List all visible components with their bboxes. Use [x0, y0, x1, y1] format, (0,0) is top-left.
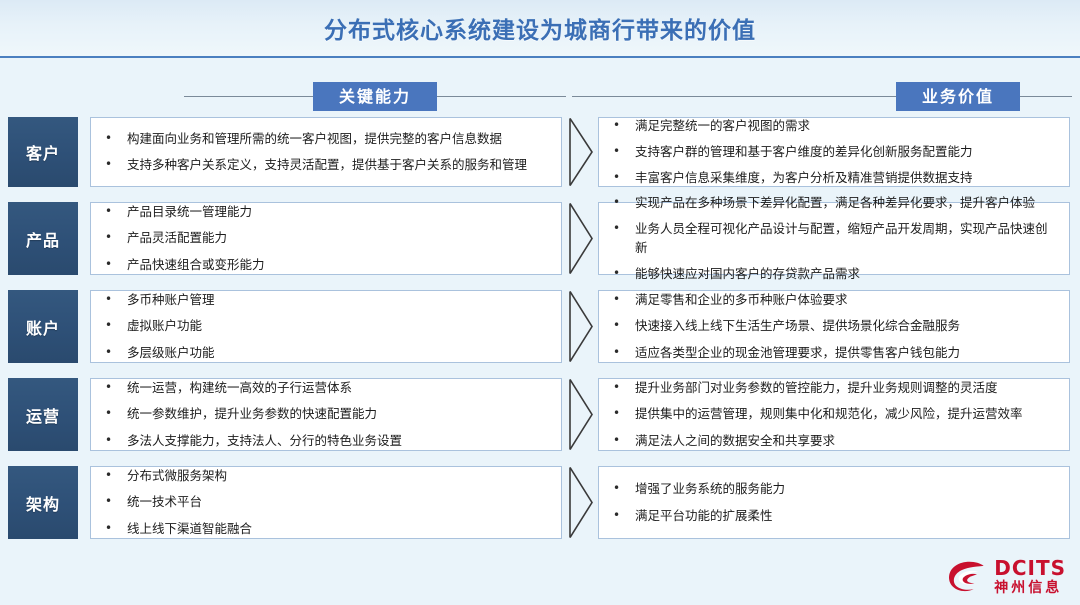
- brand-logo: DCITS 神州信息: [947, 558, 1066, 595]
- bullet-text: 多法人支撑能力，支持法人、分行的特色业务设置: [127, 432, 551, 450]
- pill-business-value: 业务价值: [896, 82, 1020, 111]
- capabilities-panel: •产品目录统一管理能力•产品灵活配置能力•产品快速组合或变形能力: [90, 202, 562, 275]
- bullet-item: •多层级账户功能: [101, 340, 551, 366]
- bullet-item: •提升业务部门对业务参数的管控能力，提升业务规则调整的灵活度: [609, 375, 1059, 401]
- title-band: 分布式核心系统建设为城商行带来的价值: [0, 0, 1080, 58]
- bullet-dot-icon: •: [609, 432, 635, 449]
- bullet-text: 提升业务部门对业务参数的管控能力，提升业务规则调整的灵活度: [635, 379, 1059, 397]
- bullet-text: 业务人员全程可视化产品设计与配置，缩短产品开发周期，实现产品快速创新: [635, 220, 1059, 256]
- column-header-capabilities: 关键能力: [184, 82, 566, 111]
- bullet-item: •虚拟账户功能: [101, 313, 551, 339]
- bullet-item: •支持客户群的管理和基于客户维度的差异化创新服务配置能力: [609, 139, 1059, 165]
- bullet-item: •统一技术平台: [101, 489, 551, 515]
- bullet-dot-icon: •: [609, 194, 635, 211]
- bullet-item: •丰富客户信息采集维度，为客户分析及精准营销提供数据支持: [609, 165, 1059, 191]
- bullet-text: 满足平台功能的扩展柔性: [635, 507, 1059, 525]
- bullet-item: •分布式微服务架构: [101, 463, 551, 489]
- bullet-item: •业务人员全程可视化产品设计与配置，缩短产品开发周期，实现产品快速创新: [609, 216, 1059, 260]
- bullet-dot-icon: •: [101, 344, 127, 361]
- bullet-text: 统一参数维护，提升业务参数的快速配置能力: [127, 405, 551, 423]
- bullet-item: •构建面向业务和管理所需的统一客户视图，提供完整的客户信息数据: [101, 126, 551, 152]
- row-tag: 客户: [8, 117, 78, 187]
- bullet-dot-icon: •: [609, 480, 635, 497]
- capabilities-panel: •构建面向业务和管理所需的统一客户视图，提供完整的客户信息数据•支持多种客户关系…: [90, 117, 562, 187]
- bullet-text: 增强了业务系统的服务能力: [635, 480, 1059, 498]
- row-tag: 架构: [8, 466, 78, 539]
- bullet-dot-icon: •: [609, 117, 635, 134]
- dcits-swirl-icon: [947, 560, 987, 594]
- bullet-item: •满足完整统一的客户视图的需求: [609, 113, 1059, 139]
- row-tag-label: 客户: [26, 140, 60, 164]
- bullet-text: 多层级账户功能: [127, 344, 551, 362]
- bullet-item: •统一运营，构建统一高效的子行运营体系: [101, 375, 551, 401]
- bullet-text: 产品灵活配置能力: [127, 229, 551, 247]
- bullet-text: 实现产品在多种场景下差异化配置，满足各种差异化要求，提升客户体验: [635, 194, 1059, 212]
- bullet-dot-icon: •: [101, 432, 127, 449]
- bullet-item: •适应各类型企业的现金池管理要求，提供零售客户钱包能力: [609, 340, 1059, 366]
- logo-english: DCITS: [994, 558, 1066, 578]
- bullet-dot-icon: •: [101, 379, 127, 396]
- rule-right: [437, 96, 566, 97]
- logo-chinese: 神州信息: [994, 581, 1066, 595]
- bullet-text: 支持多种客户关系定义，支持灵活配置，提供基于客户关系的服务和管理: [127, 156, 551, 174]
- bullet-dot-icon: •: [609, 344, 635, 361]
- bullet-dot-icon: •: [101, 291, 127, 308]
- business-value-panel: •提升业务部门对业务参数的管控能力，提升业务规则调整的灵活度•提供集中的运营管理…: [598, 378, 1070, 451]
- business-value-panel: •满足零售和企业的多币种账户体验要求•快速接入线上线下生活生产场景、提供场景化综…: [598, 290, 1070, 363]
- business-value-panel: •增强了业务系统的服务能力•满足平台功能的扩展柔性: [598, 466, 1070, 539]
- bullet-item: •产品灵活配置能力: [101, 225, 551, 251]
- bullet-text: 虚拟账户功能: [127, 317, 551, 335]
- bullet-item: •线上线下渠道智能融合: [101, 516, 551, 542]
- bullet-dot-icon: •: [609, 220, 635, 237]
- content-row: 客户•构建面向业务和管理所需的统一客户视图，提供完整的客户信息数据•支持多种客户…: [0, 117, 1080, 187]
- bullet-item: •产品快速组合或变形能力: [101, 252, 551, 278]
- bullet-text: 分布式微服务架构: [127, 467, 551, 485]
- bullet-text: 多币种账户管理: [127, 291, 551, 309]
- bullet-text: 统一技术平台: [127, 493, 551, 511]
- bullet-text: 快速接入线上线下生活生产场景、提供场景化综合金融服务: [635, 317, 1059, 335]
- bullet-dot-icon: •: [101, 156, 127, 173]
- bullet-dot-icon: •: [609, 317, 635, 334]
- row-tag: 运营: [8, 378, 78, 451]
- bullet-dot-icon: •: [101, 229, 127, 246]
- bullet-text: 满足零售和企业的多币种账户体验要求: [635, 291, 1059, 309]
- bullet-text: 能够快速应对国内客户的存贷款产品需求: [635, 265, 1059, 283]
- bullet-dot-icon: •: [101, 256, 127, 273]
- capabilities-panel: •分布式微服务架构•统一技术平台•线上线下渠道智能融合: [90, 466, 562, 539]
- logo-wordmark: DCITS 神州信息: [994, 558, 1066, 595]
- rule-left: [572, 96, 896, 97]
- content-row: 运营•统一运营，构建统一高效的子行运营体系•统一参数维护，提升业务参数的快速配置…: [0, 378, 1080, 451]
- chevron-arrow-icon: [566, 202, 596, 275]
- bullet-dot-icon: •: [101, 203, 127, 220]
- chevron-arrow-icon: [566, 466, 596, 539]
- bullet-text: 丰富客户信息采集维度，为客户分析及精准营销提供数据支持: [635, 169, 1059, 187]
- bullet-dot-icon: •: [609, 143, 635, 160]
- bullet-dot-icon: •: [609, 265, 635, 282]
- capabilities-panel: •统一运营，构建统一高效的子行运营体系•统一参数维护，提升业务参数的快速配置能力…: [90, 378, 562, 451]
- bullet-dot-icon: •: [609, 405, 635, 422]
- bullet-text: 统一运营，构建统一高效的子行运营体系: [127, 379, 551, 397]
- row-tag-label: 架构: [26, 491, 60, 515]
- bullet-dot-icon: •: [101, 405, 127, 422]
- bullet-item: •统一参数维护，提升业务参数的快速配置能力: [101, 401, 551, 427]
- bullet-text: 支持客户群的管理和基于客户维度的差异化创新服务配置能力: [635, 143, 1059, 161]
- bullet-item: •满足零售和企业的多币种账户体验要求: [609, 287, 1059, 313]
- slide-canvas: 分布式核心系统建设为城商行带来的价值 关键能力 业务价值 客户•构建面向业务和管…: [0, 0, 1080, 605]
- bullet-dot-icon: •: [609, 291, 635, 308]
- capabilities-panel: •多币种账户管理•虚拟账户功能•多层级账户功能: [90, 290, 562, 363]
- bullet-dot-icon: •: [101, 130, 127, 147]
- bullet-text: 提供集中的运营管理，规则集中化和规范化，减少风险，提升运营效率: [635, 405, 1059, 423]
- bullet-item: •快速接入线上线下生活生产场景、提供场景化综合金融服务: [609, 313, 1059, 339]
- bullet-dot-icon: •: [101, 317, 127, 334]
- bullet-dot-icon: •: [101, 520, 127, 537]
- bullet-item: •增强了业务系统的服务能力: [609, 476, 1059, 502]
- bullet-dot-icon: •: [609, 507, 635, 524]
- row-tag-label: 运营: [26, 403, 60, 427]
- bullet-text: 构建面向业务和管理所需的统一客户视图，提供完整的客户信息数据: [127, 130, 551, 148]
- rule-right: [1020, 96, 1072, 97]
- page-title: 分布式核心系统建设为城商行带来的价值: [324, 11, 756, 45]
- bullet-item: •多币种账户管理: [101, 287, 551, 313]
- bullet-text: 满足完整统一的客户视图的需求: [635, 117, 1059, 135]
- business-value-panel: •实现产品在多种场景下差异化配置，满足各种差异化要求，提升客户体验•业务人员全程…: [598, 202, 1070, 275]
- bullet-item: •满足法人之间的数据安全和共享要求: [609, 428, 1059, 454]
- bullet-item: •多法人支撑能力，支持法人、分行的特色业务设置: [101, 428, 551, 454]
- bullet-text: 产品快速组合或变形能力: [127, 256, 551, 274]
- row-tag-label: 账户: [26, 315, 60, 339]
- bullet-item: •满足平台功能的扩展柔性: [609, 503, 1059, 529]
- content-row: 架构•分布式微服务架构•统一技术平台•线上线下渠道智能融合•增强了业务系统的服务…: [0, 466, 1080, 539]
- bullet-dot-icon: •: [101, 467, 127, 484]
- column-header-business-value: 业务价值: [572, 82, 1072, 111]
- pill-key-capabilities: 关键能力: [313, 82, 437, 111]
- business-value-panel: •满足完整统一的客户视图的需求•支持客户群的管理和基于客户维度的差异化创新服务配…: [598, 117, 1070, 187]
- row-tag-label: 产品: [26, 227, 60, 251]
- bullet-text: 适应各类型企业的现金池管理要求，提供零售客户钱包能力: [635, 344, 1059, 362]
- chevron-arrow-icon: [566, 378, 596, 451]
- row-tag: 账户: [8, 290, 78, 363]
- bullet-dot-icon: •: [609, 379, 635, 396]
- content-row: 账户•多币种账户管理•虚拟账户功能•多层级账户功能•满足零售和企业的多币种账户体…: [0, 290, 1080, 363]
- rule-left: [184, 96, 313, 97]
- bullet-item: •实现产品在多种场景下差异化配置，满足各种差异化要求，提升客户体验: [609, 190, 1059, 216]
- chevron-arrow-icon: [566, 290, 596, 363]
- bullet-item: •支持多种客户关系定义，支持灵活配置，提供基于客户关系的服务和管理: [101, 152, 551, 178]
- bullet-item: •提供集中的运营管理，规则集中化和规范化，减少风险，提升运营效率: [609, 401, 1059, 427]
- bullet-item: •产品目录统一管理能力: [101, 199, 551, 225]
- bullet-text: 产品目录统一管理能力: [127, 203, 551, 221]
- bullet-text: 满足法人之间的数据安全和共享要求: [635, 432, 1059, 450]
- row-tag: 产品: [8, 202, 78, 275]
- bullet-dot-icon: •: [609, 169, 635, 186]
- bullet-item: •能够快速应对国内客户的存贷款产品需求: [609, 261, 1059, 287]
- bullet-dot-icon: •: [101, 493, 127, 510]
- bullet-text: 线上线下渠道智能融合: [127, 520, 551, 538]
- content-row: 产品•产品目录统一管理能力•产品灵活配置能力•产品快速组合或变形能力•实现产品在…: [0, 202, 1080, 275]
- chevron-arrow-icon: [566, 117, 596, 187]
